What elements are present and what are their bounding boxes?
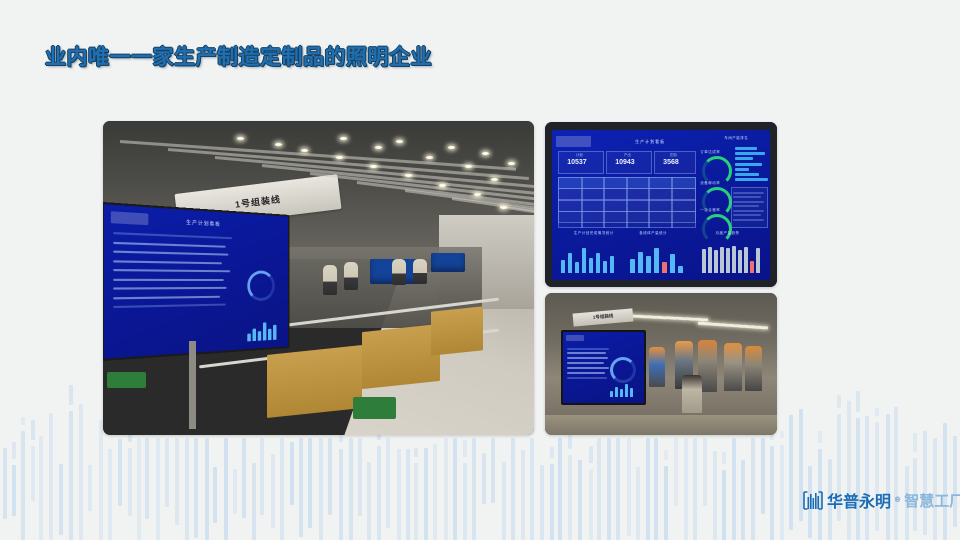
ceiling-light: [500, 206, 507, 209]
decorative-bar: [299, 438, 303, 537]
photo-workers-at-line: 1号组装线: [545, 293, 777, 435]
decorative-bar: [636, 467, 640, 540]
monitor-stand: [189, 341, 196, 429]
decorative-bar: [21, 431, 25, 540]
decorative-bar: [328, 438, 332, 515]
decorative-bar: [349, 438, 353, 540]
decorative-bar: [865, 416, 869, 540]
decorative-bar: [252, 463, 256, 540]
decorative-bar: [108, 449, 112, 540]
decorative-bar: [128, 434, 132, 442]
decorative-bar: [780, 431, 784, 439]
dashboard-screen: 生产计划看板: [104, 204, 288, 359]
decorative-bar: [175, 438, 179, 525]
wood-panel: [267, 345, 362, 418]
decorative-bar: [224, 438, 228, 540]
decorative-bar: [69, 411, 73, 540]
ceiling-light: [396, 140, 403, 143]
panel-title: 车间产能排名: [724, 136, 748, 141]
wood-panel: [431, 307, 483, 356]
decorative-bar: [12, 465, 16, 517]
decorative-bar: [684, 438, 688, 540]
decorative-bar: [99, 420, 103, 540]
decorative-bar: [463, 463, 467, 540]
decorative-bar: [713, 451, 717, 540]
bar-chart: [561, 245, 621, 273]
decorative-bar: [463, 440, 467, 457]
decorative-bar: [568, 455, 572, 540]
decorative-bar: [472, 438, 476, 540]
decorative-bar: [358, 438, 362, 516]
bar-chart: [702, 243, 764, 273]
dashboard-screen: [563, 332, 644, 403]
decorative-bar: [578, 460, 582, 540]
decorative-bar: [761, 438, 765, 514]
decorative-bar: [88, 465, 92, 511]
wood-panel: [362, 324, 440, 389]
decorative-bar: [693, 438, 697, 540]
decorative-bar: [386, 438, 390, 528]
decorative-bar: [856, 418, 860, 540]
decorative-bar: [128, 448, 132, 516]
worker: [413, 259, 427, 284]
footer-logo: 华普永明®智慧工厂: [803, 488, 960, 512]
decorative-bar: [703, 438, 707, 506]
decorative-bar: [260, 438, 264, 515]
decorative-bar: [414, 463, 418, 540]
decorative-bar: [511, 438, 515, 540]
decorative-bar: [943, 423, 947, 540]
donut-chart: [610, 357, 636, 383]
photo-production-dashboard: 生产计划看板 计划 产出 在制 10537 10943 3568: [545, 122, 777, 287]
decorative-bar: [875, 408, 879, 416]
kpi-value: 3568: [663, 159, 679, 166]
decorative-bar: [589, 446, 593, 463]
decorative-bar: [894, 407, 898, 540]
dashboard-header: 生产计划看板: [113, 211, 282, 235]
decorative-bar: [550, 447, 554, 458]
dashboard-monitor: [561, 330, 646, 405]
decorative-bar: [185, 438, 189, 540]
decorative-bar: [339, 435, 343, 443]
green-bin: [353, 397, 396, 419]
decorative-bar: [568, 435, 572, 449]
worker: [392, 259, 406, 285]
worker: [323, 265, 337, 295]
decorative-bar: [31, 420, 35, 440]
green-bin: [107, 372, 146, 388]
panel-title: 各线体产量统计: [639, 231, 667, 236]
decorative-bar: [856, 391, 860, 412]
decorative-bar: [732, 438, 736, 540]
decorative-bar: [780, 445, 784, 540]
registered-mark: ®: [895, 497, 900, 504]
decorative-bar: [589, 469, 593, 540]
work-counter: [545, 415, 777, 435]
brand-name: 华普永明: [827, 488, 891, 512]
ceiling-light: [237, 137, 244, 140]
ceiling-light: [508, 162, 515, 165]
decorative-bar: [424, 448, 428, 540]
decorative-bar: [31, 446, 35, 502]
bar-chart: [630, 245, 685, 273]
decorative-bar: [722, 470, 726, 540]
decorative-bar: [290, 442, 294, 505]
decorative-bar: [491, 438, 495, 503]
bar-chart: [610, 381, 638, 397]
decorative-bar: [406, 449, 410, 540]
worker: [649, 347, 665, 387]
dashboard-logo: [556, 136, 591, 147]
decorative-bar: [339, 449, 343, 540]
kpi-label: 在制: [670, 153, 677, 158]
decorative-bar: [271, 454, 275, 528]
decorative-bar: [770, 446, 774, 540]
decorative-bar: [875, 422, 879, 531]
decorative-bar: [654, 438, 658, 540]
decorative-bar: [444, 438, 448, 540]
decorative-bar: [837, 395, 841, 409]
kpi-label: 产出: [624, 153, 631, 158]
ceiling-light: [336, 156, 343, 159]
decorative-bar: [156, 438, 160, 540]
worker: [682, 375, 702, 413]
decorative-bar: [145, 438, 149, 519]
decorative-bar: [194, 438, 198, 538]
decorative-bar: [280, 438, 284, 540]
decorative-bar: [233, 469, 237, 514]
decorative-bar: [12, 442, 16, 459]
workers-scene: 1号组装线: [545, 293, 777, 435]
decorative-bar: [205, 438, 209, 540]
page-title: 业内唯一一家生产制造定制品的照明企业: [45, 41, 432, 71]
photo-assembly-line-overview: 1号组装线 生产计划看板: [103, 121, 534, 435]
decorative-bar: [242, 438, 246, 518]
donut-chart: [248, 271, 275, 302]
decorative-bar: [627, 438, 631, 536]
decorative-bar: [886, 414, 890, 540]
worker: [745, 346, 762, 391]
decorative-bar: [49, 413, 53, 540]
decorative-bar: [953, 436, 957, 527]
bracket-bars-icon: [803, 491, 823, 510]
decorative-bar: [923, 431, 927, 535]
decorative-bar: [558, 438, 562, 540]
blue-equipment: [431, 253, 465, 272]
decorative-bar: [664, 466, 668, 540]
slide-canvas: 业内唯一一家生产制造定制品的照明企业 1号组装线: [0, 0, 960, 540]
kpi-label: 计划: [576, 153, 583, 158]
ceiling-light: [340, 137, 347, 140]
decorative-bar: [367, 462, 371, 540]
bar-chart: [248, 319, 279, 341]
factory-scene: 1号组装线 生产计划看板: [103, 121, 534, 435]
decorative-bar: [433, 444, 437, 540]
dashboard-monitor: 生产计划看板: [103, 202, 290, 361]
ceiling-light: [426, 156, 433, 159]
decorative-bar: [540, 465, 544, 540]
dashboard-photo-scene: 生产计划看板 计划 产出 在制 10537 10943 3568: [545, 122, 777, 287]
decorative-bar: [397, 449, 401, 540]
decorative-bar: [414, 448, 418, 456]
sub-brand-name: 智慧工厂: [904, 490, 960, 511]
decorative-bar: [39, 436, 43, 540]
ceiling-light: [375, 146, 382, 149]
decorative-bar: [118, 439, 122, 506]
worker: [724, 343, 742, 391]
kpi-value: 10943: [615, 159, 634, 166]
gauge-label: 设备稼动率: [700, 181, 720, 186]
decorative-bar: [741, 460, 745, 540]
decorative-bar: [616, 438, 620, 540]
panel-title: 月度产量趋势: [716, 231, 740, 236]
dashboard-header: 生产计划看板: [606, 135, 693, 149]
worker: [344, 262, 358, 290]
decorative-bar: [482, 453, 486, 504]
kpi-value: 10537: [567, 159, 586, 166]
ceiling-light: [465, 165, 472, 168]
decorative-bar: [674, 438, 678, 506]
decorative-bar: [502, 462, 506, 540]
gauge-label: 订单达成率: [700, 150, 720, 155]
decorative-bar: [597, 438, 601, 540]
decorative-bar: [69, 385, 73, 405]
ceiling-light: [491, 178, 498, 181]
decorative-bar: [59, 464, 63, 536]
ceiling-light: [439, 184, 446, 187]
decorative-bar: [319, 438, 323, 540]
decorative-bar: [3, 448, 7, 519]
decorative-bar: [818, 431, 822, 443]
decorative-bar: [847, 401, 851, 540]
decorative-bar: [79, 404, 83, 540]
decorative-bar: [377, 446, 381, 540]
decorative-bar: [607, 438, 611, 540]
decorative-bar: [664, 450, 668, 460]
decorative-bar: [722, 452, 726, 464]
panel-title: 生产计划完成情况统计: [574, 231, 614, 236]
decorative-bar: [213, 467, 217, 523]
dashboard-screen: 生产计划看板 计划 产出 在制 10537 10943 3568: [552, 130, 770, 280]
decorative-bar: [646, 438, 650, 540]
decorative-bar: [521, 450, 525, 540]
decorative-bar: [550, 464, 554, 540]
decorative-bar: [789, 415, 793, 530]
decorative-bar: [137, 438, 141, 540]
decorative-bar: [453, 438, 457, 540]
decorative-bar: [530, 438, 534, 540]
gauge-label: 一次合格率: [700, 208, 720, 213]
decorative-bar: [21, 417, 25, 424]
decorative-bar: [165, 438, 169, 507]
decorative-bar: [913, 433, 917, 451]
decorative-bar: [308, 438, 312, 528]
decorative-bar: [751, 438, 755, 540]
gauge-chart: [702, 214, 732, 244]
